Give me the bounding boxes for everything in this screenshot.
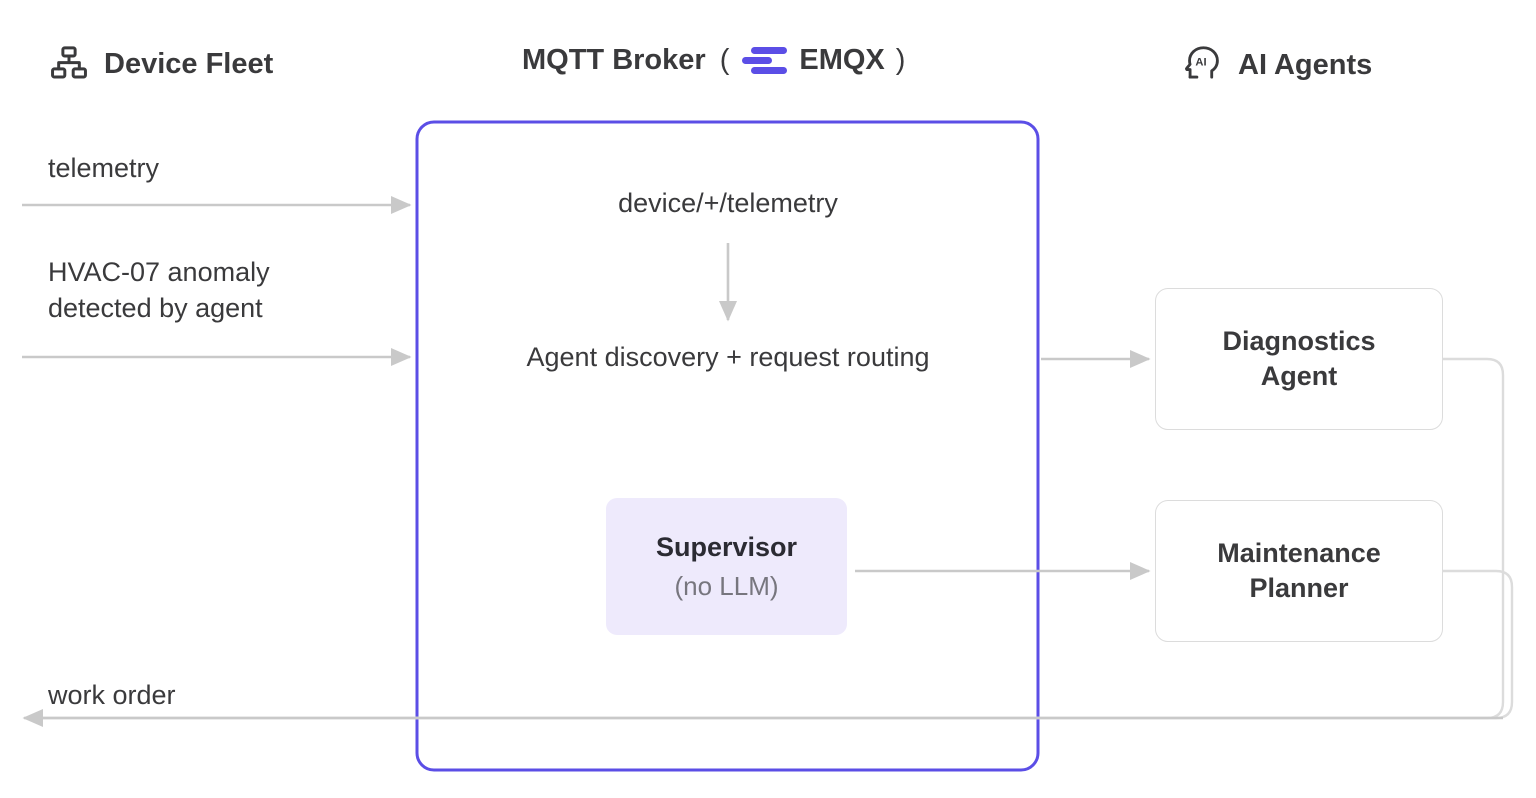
- sitemap-icon: [48, 43, 90, 85]
- supervisor-subtitle: (no LLM): [674, 570, 778, 604]
- header-ai-agents-label: AI Agents: [1238, 49, 1372, 82]
- svg-text:AI: AI: [1195, 57, 1206, 69]
- label-telemetry: telemetry: [48, 150, 159, 186]
- supervisor-title: Supervisor: [656, 530, 797, 565]
- header-mqtt-broker-label: MQTT Broker: [522, 44, 706, 77]
- agent-diagnostics-line2: Agent: [1261, 359, 1338, 394]
- header-device-fleet-label: Device Fleet: [104, 48, 273, 81]
- agent-maintenance-line1: Maintenance: [1217, 536, 1381, 571]
- ai-head-icon: AI: [1180, 43, 1224, 87]
- broker-routing-text: Agent discovery + request routing: [527, 342, 930, 373]
- label-anomaly-line1: HVAC-07 anomaly: [48, 254, 270, 290]
- paren-open: (: [720, 44, 730, 77]
- emqx-logo-icon: [740, 43, 788, 77]
- agent-maintenance-line2: Planner: [1249, 571, 1348, 606]
- header-ai-agents: AI AI Agents: [1180, 43, 1372, 87]
- diagram-canvas: Device Fleet MQTT Broker ( EMQX ) AI AI …: [0, 0, 1536, 798]
- header-mqtt-broker: MQTT Broker ( EMQX ): [522, 43, 905, 77]
- emqx-brand-label: EMQX: [799, 44, 884, 77]
- broker-topic-text: device/+/telemetry: [618, 188, 838, 219]
- supervisor-node: Supervisor (no LLM): [606, 498, 847, 635]
- agent-node-maintenance: Maintenance Planner: [1155, 500, 1443, 642]
- label-anomaly: HVAC-07 anomaly detected by agent: [48, 254, 270, 326]
- label-work-order: work order: [48, 677, 176, 713]
- label-anomaly-line2: detected by agent: [48, 290, 270, 326]
- mqtt-broker-container: [417, 122, 1038, 770]
- paren-close: ): [896, 44, 906, 77]
- header-device-fleet: Device Fleet: [48, 43, 273, 85]
- agent-node-diagnostics: Diagnostics Agent: [1155, 288, 1443, 430]
- agent-diagnostics-line1: Diagnostics: [1222, 324, 1375, 359]
- emqx-brand-group: ( EMQX ): [720, 43, 906, 77]
